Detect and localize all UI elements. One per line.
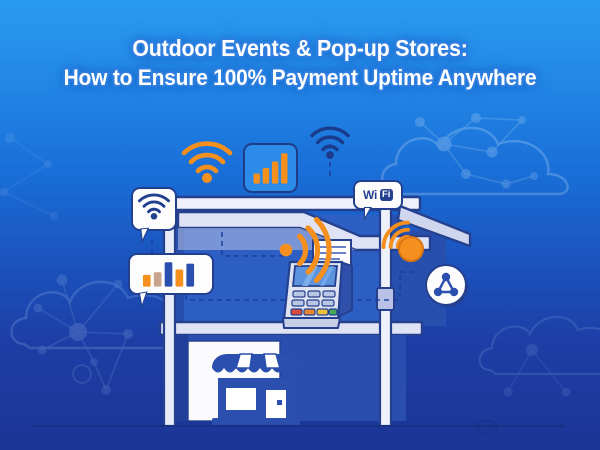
bubble-tail-inner bbox=[365, 208, 370, 217]
hero-banner: Outdoor Events & Pop-up Stores: How to E… bbox=[0, 0, 600, 450]
storefront-icon bbox=[212, 354, 300, 425]
wifi-label-bubble[interactable]: Wi Fi bbox=[353, 180, 403, 210]
orange-connector-node[interactable] bbox=[398, 236, 424, 262]
wifi-signal-dark-top-icon bbox=[312, 128, 348, 159]
title-line-2: How to Ensure 100% Payment Uptime Anywhe… bbox=[21, 63, 579, 92]
wifi-bubble-left[interactable] bbox=[131, 187, 177, 231]
signal-bars-badge[interactable] bbox=[243, 143, 298, 193]
bar-chart-icon bbox=[130, 255, 212, 293]
bubble-tail-inner bbox=[141, 229, 148, 240]
title-line-1: Outdoor Events & Pop-up Stores: bbox=[21, 34, 579, 63]
signal-chart-bubble-left[interactable] bbox=[128, 253, 214, 295]
wifi-signal-orange-top-icon bbox=[184, 144, 230, 183]
page-title: Outdoor Events & Pop-up Stores: How to E… bbox=[0, 34, 600, 92]
wifi-label-wi: Wi bbox=[363, 188, 377, 202]
wifi-label-fi: Fi bbox=[380, 189, 393, 201]
signal-bars-icon bbox=[245, 145, 296, 191]
wifi-icon bbox=[133, 189, 175, 229]
ground-knot bbox=[476, 420, 498, 433]
network-share-node[interactable] bbox=[424, 263, 470, 309]
share-nodes-icon bbox=[424, 263, 470, 309]
